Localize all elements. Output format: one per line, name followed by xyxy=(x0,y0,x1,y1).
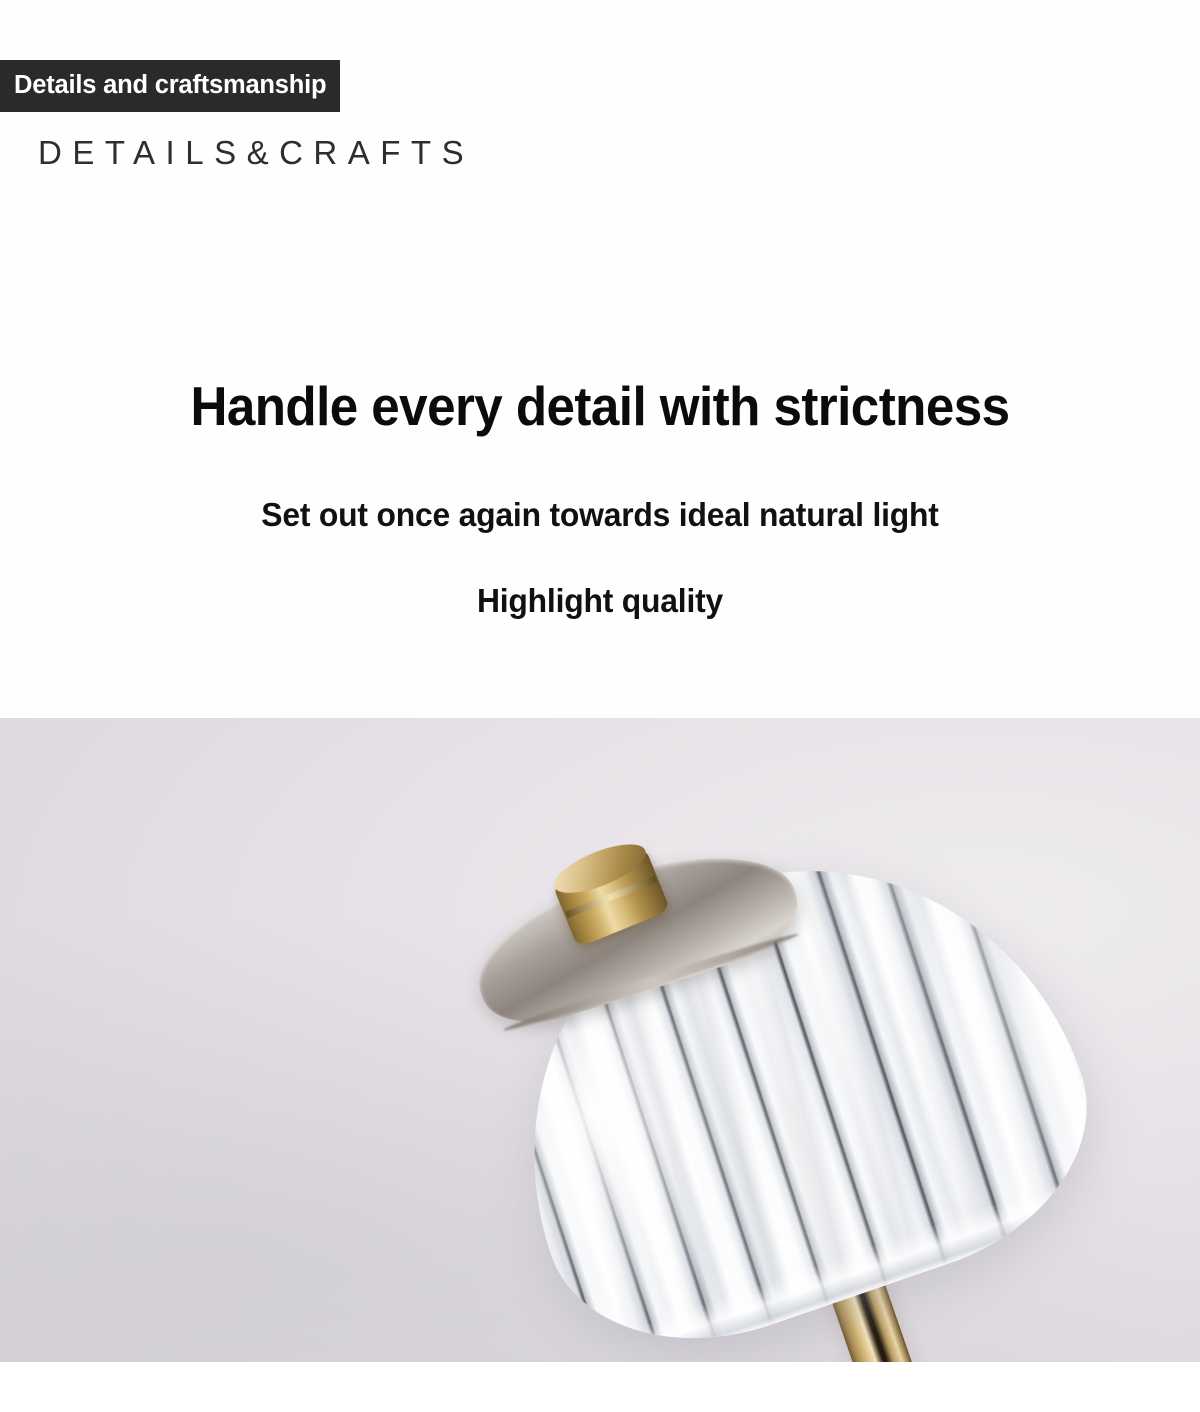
page-title: Handle every detail with strictness xyxy=(42,375,1158,438)
wordmark-details-and-crafts: DETAILS&CRAFTS xyxy=(38,133,474,173)
hero-section: Details and craftsmanship DETAILS&CRAFTS… xyxy=(0,0,1200,718)
bottom-spacer xyxy=(0,1362,1200,1412)
subtitle-line-2: Highlight quality xyxy=(30,582,1170,622)
product-detail-page: Details and craftsmanship DETAILS&CRAFTS… xyxy=(0,0,1200,1412)
product-photo-section: High Clarity PMMA Lamp Shade Bright and … xyxy=(0,718,1200,1362)
subtitle-line-1: Set out once again towards ideal natural… xyxy=(30,496,1170,536)
section-badge: Details and craftsmanship xyxy=(0,60,340,112)
